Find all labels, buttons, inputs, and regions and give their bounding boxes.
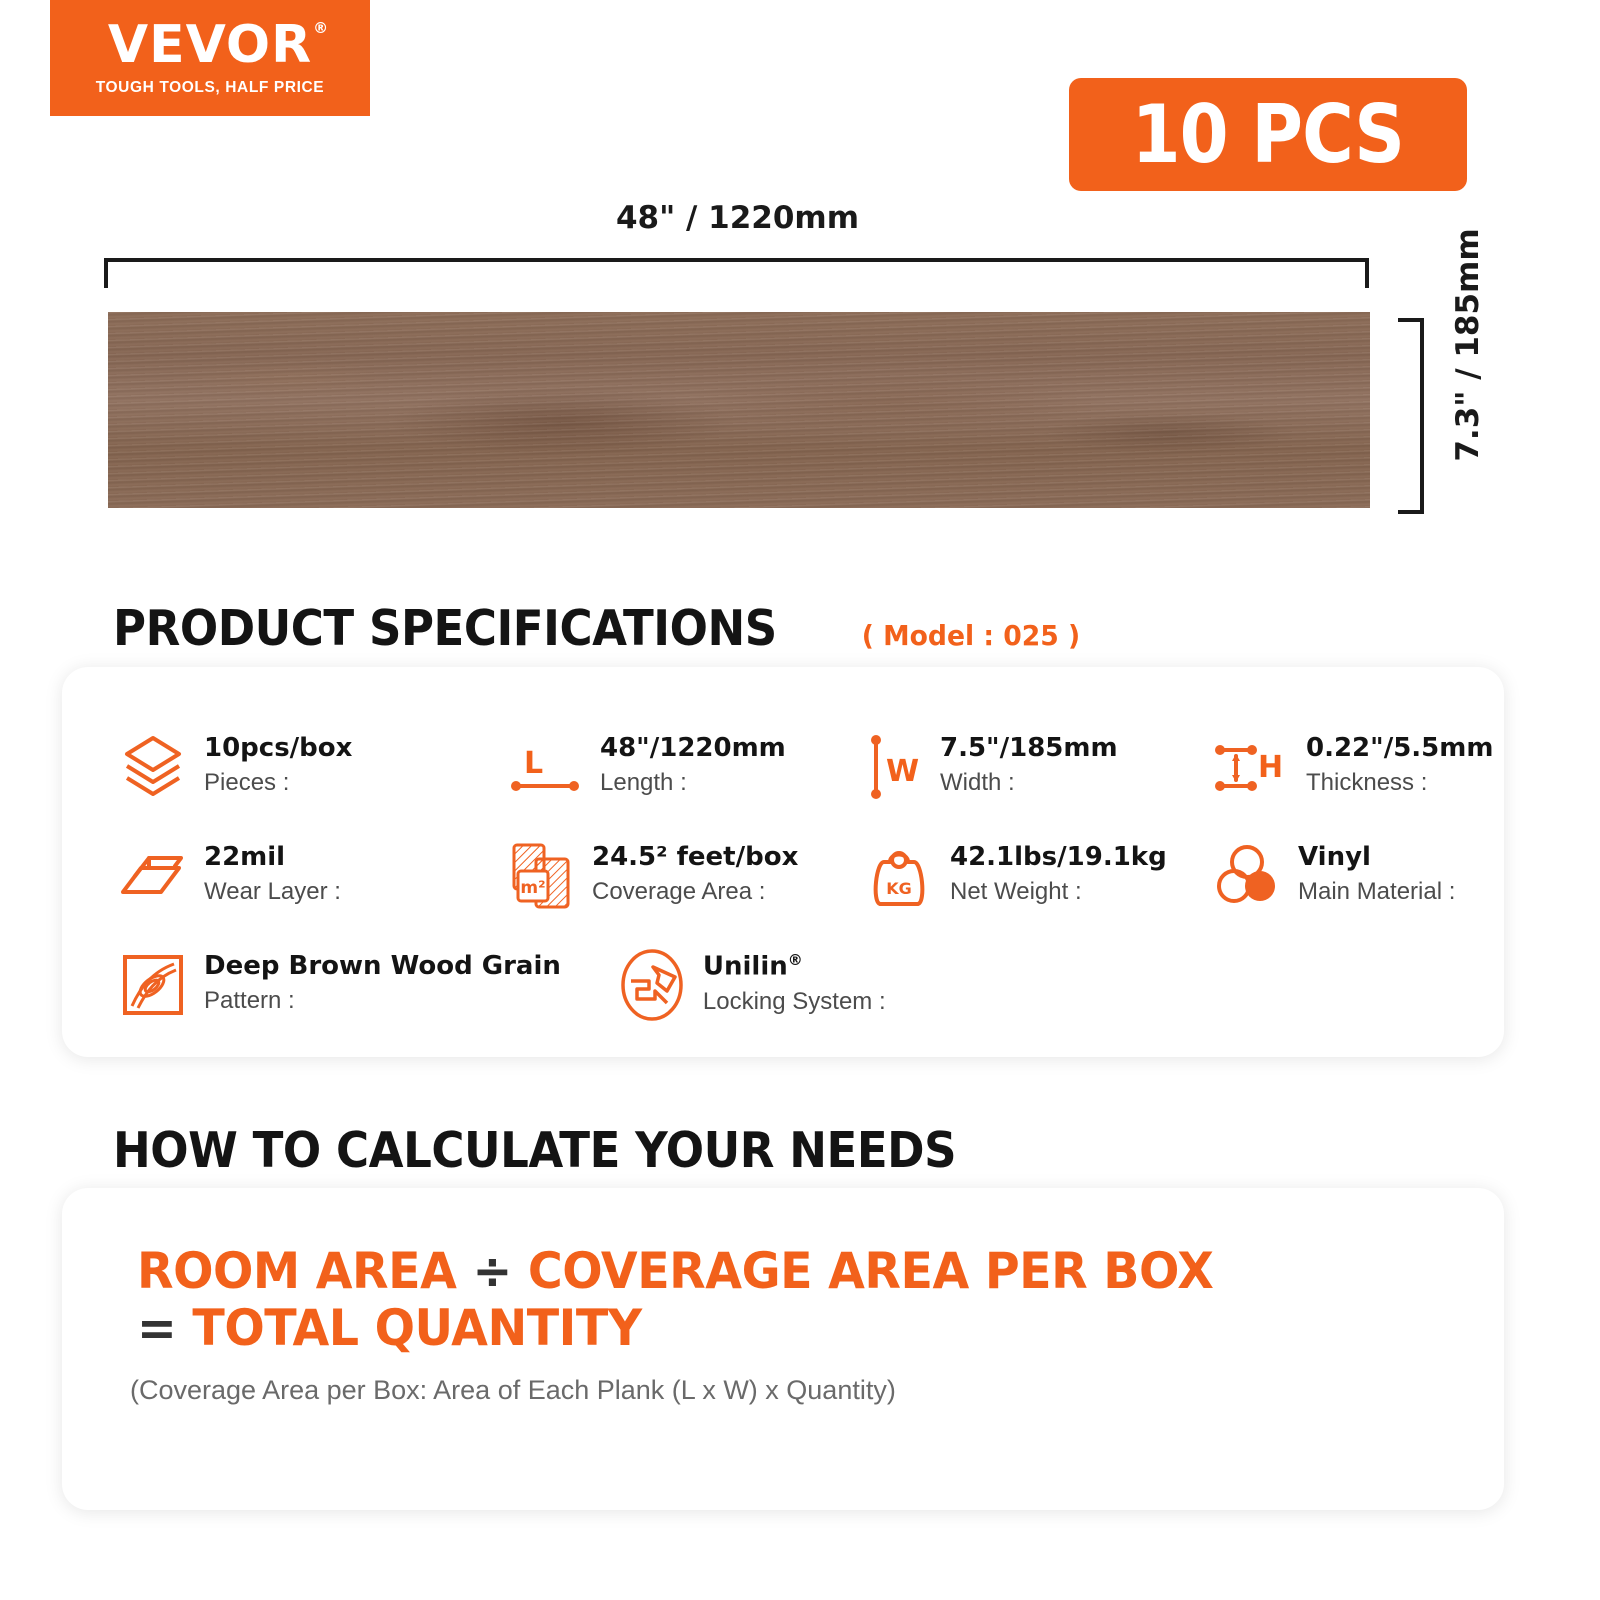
spec-item-empty — [886, 930, 1195, 1039]
spec-row: 10pcs/box Pieces : L 48"/1220m — [62, 712, 1504, 821]
area-m2-icon: m² — [506, 839, 576, 913]
spec-text: 42.1lbs/19.1kg Net Weight : — [950, 843, 1167, 907]
spec-text: 24.5² feet/box Coverage Area : — [592, 843, 798, 907]
quantity-badge-label: 10 PCS — [1132, 95, 1404, 175]
formula-line-1: ROOM AREA ÷ COVERAGE AREA PER BOX — [137, 1243, 1372, 1300]
weight-kg-icon: KG — [864, 839, 934, 913]
width-w-icon: W — [864, 730, 924, 804]
quantity-badge: 10 PCS — [1069, 78, 1467, 191]
specs-heading: PRODUCT SPECIFICATIONS — [113, 600, 777, 657]
spec-label: Pieces : — [204, 767, 352, 798]
material-circles-icon — [1212, 839, 1282, 913]
svg-text:m²: m² — [520, 878, 545, 898]
spec-value: Vinyl — [1298, 843, 1455, 873]
spec-text: 10pcs/box Pieces : — [204, 734, 352, 798]
unilin-lock-icon — [617, 948, 687, 1022]
spec-text: Vinyl Main Material : — [1298, 843, 1455, 907]
plank-width-label: 7.3" / 185mm — [1450, 215, 1486, 475]
spec-value: Deep Brown Wood Grain — [204, 952, 561, 982]
spec-value: 10pcs/box — [204, 734, 352, 764]
formula-note: (Coverage Area per Box: Area of Each Pla… — [130, 1375, 896, 1406]
spec-label: Coverage Area : — [592, 876, 798, 907]
spec-value: 22mil — [204, 843, 341, 873]
wood-grain-icon — [118, 948, 188, 1022]
brand-tagline: TOUGH TOOLS, HALF PRICE — [96, 79, 325, 97]
calculation-formula: ROOM AREA ÷ COVERAGE AREA PER BOX = TOTA… — [137, 1243, 1437, 1357]
length-bracket — [104, 258, 1369, 288]
spec-value: 24.5² feet/box — [592, 843, 798, 873]
length-l-icon: L — [506, 730, 584, 804]
locking-system-name: Unilin — [703, 952, 788, 982]
spec-label: Main Material : — [1298, 876, 1455, 907]
spec-label: Length : — [600, 767, 786, 798]
calc-section-title: HOW TO CALCULATE YOUR NEEDS — [113, 1122, 1029, 1179]
spec-item-coverage-area: m² 24.5² feet/box Coverage Area : — [450, 821, 808, 930]
specs-section-title: PRODUCT SPECIFICATIONS ( Model : 025 ) — [113, 600, 1086, 657]
spec-grid: 10pcs/box Pieces : L 48"/1220m — [62, 712, 1504, 1039]
spec-text: 48"/1220mm Length : — [600, 734, 786, 798]
spec-item-width: W 7.5"/185mm Width : — [808, 712, 1156, 821]
spec-item-net-weight: KG 42.1lbs/19.1kg Net Weight : — [808, 821, 1156, 930]
formula-divide-operator: ÷ — [472, 1242, 511, 1300]
calc-heading: HOW TO CALCULATE YOUR NEEDS — [113, 1122, 956, 1179]
spec-label: Wear Layer : — [204, 876, 341, 907]
spec-text: 7.5"/185mm Width : — [940, 734, 1118, 798]
formula-total-quantity: TOTAL QUANTITY — [192, 1299, 641, 1357]
formula-room-area: ROOM AREA — [137, 1242, 456, 1300]
spec-text: 22mil Wear Layer : — [204, 843, 341, 907]
spec-row: 22mil Wear Layer : m² — [62, 821, 1504, 930]
spec-item-empty — [1195, 930, 1504, 1039]
plank-image — [108, 312, 1370, 508]
spec-value: Unilin® — [703, 952, 886, 983]
spec-label: Net Weight : — [950, 876, 1167, 907]
spec-text: Unilin® Locking System : — [703, 952, 886, 1017]
layers-icon — [118, 730, 188, 804]
spec-item-wear-layer: 22mil Wear Layer : — [62, 821, 450, 930]
brand-name: VEVOR® — [108, 19, 312, 71]
wear-layer-icon — [118, 839, 188, 913]
spec-text: 0.22"/5.5mm Thickness : — [1306, 734, 1493, 798]
spec-value: 0.22"/5.5mm — [1306, 734, 1493, 764]
model-number: ( Model : 025 ) — [862, 619, 1080, 652]
spec-label: Thickness : — [1306, 767, 1493, 798]
spec-value: 48"/1220mm — [600, 734, 786, 764]
formula-line-2: = TOTAL QUANTITY — [137, 1300, 1372, 1357]
brand-name-text: VEVOR — [108, 15, 312, 75]
spec-item-thickness: H — [1156, 712, 1504, 821]
spec-item-length: L 48"/1220mm Length : — [450, 712, 808, 821]
spec-label: Width : — [940, 767, 1118, 798]
spec-item-pieces: 10pcs/box Pieces : — [62, 712, 450, 821]
svg-text:KG: KG — [886, 879, 912, 898]
spec-label: Locking System : — [703, 986, 886, 1017]
spec-item-locking-system: Unilin® Locking System : — [561, 930, 886, 1039]
formula-equals-operator: = — [137, 1299, 176, 1357]
spec-value: 7.5"/185mm — [940, 734, 1118, 764]
spec-row: Deep Brown Wood Grain Pattern : Unilin® — [62, 930, 1504, 1039]
spec-label: Pattern : — [204, 985, 561, 1016]
plank-length-label: 48" / 1220mm — [105, 200, 1370, 236]
spec-text: Deep Brown Wood Grain Pattern : — [204, 952, 561, 1016]
formula-coverage-area: COVERAGE AREA PER BOX — [528, 1242, 1213, 1300]
product-spec-infographic: VEVOR® TOUGH TOOLS, HALF PRICE 10 PCS 48… — [0, 0, 1600, 1600]
width-bracket — [1398, 318, 1424, 514]
height-h-icon: H — [1212, 730, 1290, 804]
vevor-logo: VEVOR® TOUGH TOOLS, HALF PRICE — [50, 0, 370, 116]
registered-mark: ® — [313, 21, 329, 36]
spec-item-pattern: Deep Brown Wood Grain Pattern : — [62, 930, 561, 1039]
locking-system-registered: ® — [788, 951, 803, 969]
spec-value: 42.1lbs/19.1kg — [950, 843, 1167, 873]
spec-item-main-material: Vinyl Main Material : — [1156, 821, 1504, 930]
